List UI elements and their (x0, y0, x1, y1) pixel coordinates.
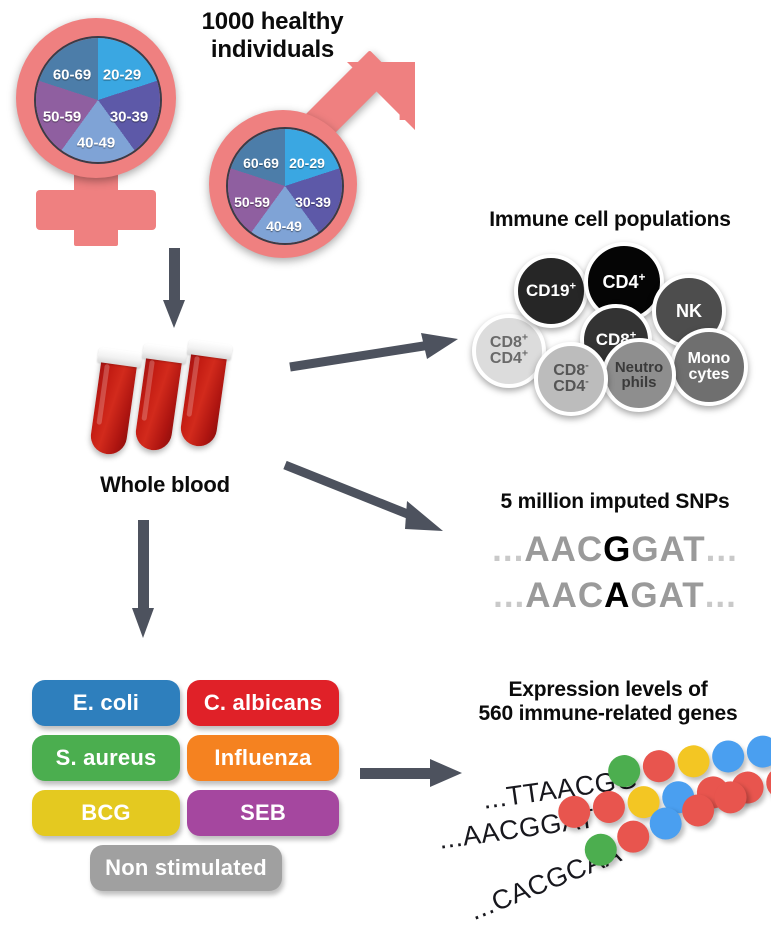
immune-cell-label-line: Neutro (615, 360, 663, 375)
immune-cell-label-line: CD4- (553, 379, 589, 395)
rna-strands: ...TTAACGG ...AACGGAT ...CACGCAA (455, 745, 771, 915)
snp-variant: A (604, 576, 630, 616)
stimulus-influenza[interactable]: Influenza (187, 735, 339, 781)
stimulus-label: S. aureus (56, 745, 157, 771)
cohort-heading: 1000 healthy individuals (185, 8, 360, 64)
arrow-blood-to-immune (288, 325, 463, 380)
stimulus-label: Non stimulated (105, 855, 267, 881)
figure-canvas: 1000 healthy individuals 20-29 30-39 40-… (0, 0, 771, 922)
male-pie-label-30-39: 30-39 (295, 194, 331, 210)
rna-bead (556, 794, 592, 830)
immune-cell-cd19pos: CD19+ (514, 254, 588, 328)
female-pie-label-20-29: 20-29 (103, 67, 141, 84)
female-pie-label-50-59: 50-59 (43, 109, 81, 126)
stimulus-c-albicans[interactable]: C. albicans (187, 680, 339, 726)
female-symbol: 20-29 30-39 40-49 50-59 60-69 (8, 14, 188, 244)
arrow-cohort-to-blood (163, 248, 185, 328)
cohort-heading-line2: individuals (185, 36, 360, 64)
snp-prefix: ... (493, 576, 525, 616)
male-symbol: 20-29 30-39 40-49 50-59 60-69 (205, 78, 420, 258)
female-pie-label-30-39: 30-39 (110, 109, 148, 126)
stimulus-label: SEB (240, 800, 286, 826)
rna-bead (641, 748, 677, 784)
female-stem-horizontal (36, 190, 156, 230)
expression-heading: Expression levels of 560 immune-related … (450, 678, 766, 727)
immune-cell-label-line: CD8- (553, 363, 589, 379)
arrow-blood-to-immune-svg (288, 325, 463, 380)
stimuli-panel: E. coli C. albicans S. aureus Influenza … (32, 680, 342, 895)
immune-cell-cluster: CD8+ CD4+ CD19+ CD4+ CD8+ NK Mono cytes … (462, 242, 762, 412)
arrow-blood-to-snps (283, 455, 463, 550)
immune-cell-cd8neg-cd4neg: CD8- CD4- (534, 342, 608, 416)
expression-heading-line1: Expression levels of (450, 678, 766, 702)
snp-left: AAC (524, 530, 603, 570)
arrow-stimuli-to-expression (360, 755, 470, 791)
rna-bead (675, 743, 711, 779)
whole-blood-label: Whole blood (75, 472, 255, 498)
stimulus-label: E. coli (73, 690, 139, 716)
snp-variant: G (603, 530, 631, 570)
rna-bead (710, 738, 746, 774)
blood-tube (89, 347, 139, 456)
immune-cell-neutrophils: Neutro phils (602, 338, 676, 412)
immune-cell-label-line: Mono (688, 351, 731, 367)
male-pie-label-50-59: 50-59 (234, 194, 270, 210)
snp-sequence-row: ...AACGGAT... (470, 530, 760, 570)
stimulus-bcg[interactable]: BCG (32, 790, 180, 836)
female-pie-label-40-49: 40-49 (77, 135, 115, 152)
immune-cell-label-line: cytes (689, 367, 730, 383)
stimulus-non-stimulated[interactable]: Non stimulated (90, 845, 282, 891)
arrow-blood-to-stimuli (132, 520, 156, 640)
male-pie-label-60-69: 60-69 (243, 155, 279, 171)
immune-cell-label-line: CD4+ (490, 351, 528, 367)
immune-cell-label-line: phils (621, 375, 656, 390)
immune-cell-label-line: CD4+ (603, 273, 646, 291)
rna-bead (606, 753, 642, 789)
snp-sequences: ...AACGGAT... ...AACAGAT... (470, 530, 760, 616)
snp-sequence-row: ...AACAGAT... (470, 576, 760, 616)
snp-left: AAC (525, 576, 604, 616)
cohort-heading-line1: 1000 healthy (185, 8, 360, 36)
rna-bead (745, 734, 771, 770)
stimulus-label: C. albicans (204, 690, 322, 716)
stimulus-label: BCG (81, 800, 131, 826)
blood-tubes (95, 340, 275, 460)
snp-prefix: ... (492, 530, 524, 570)
immune-cell-label-line: CD19+ (526, 282, 576, 299)
male-age-pie: 20-29 30-39 40-49 50-59 60-69 (226, 127, 344, 245)
immune-cell-monocytes: Mono cytes (670, 328, 748, 406)
stimulus-s-aureus[interactable]: S. aureus (32, 735, 180, 781)
expression-heading-line2: 560 immune-related genes (450, 702, 766, 726)
snp-suffix: ... (705, 576, 737, 616)
male-pie-label-40-49: 40-49 (266, 218, 302, 234)
rna-bead (764, 765, 771, 801)
stimulus-seb[interactable]: SEB (187, 790, 339, 836)
stimulus-label: Influenza (214, 745, 311, 771)
female-pie-label-60-69: 60-69 (53, 67, 91, 84)
stimulus-e-coli[interactable]: E. coli (32, 680, 180, 726)
arrow-blood-to-snps-svg (283, 455, 463, 550)
immune-cell-label-line: NK (676, 302, 702, 320)
female-age-pie: 20-29 30-39 40-49 50-59 60-69 (34, 36, 162, 164)
snp-suffix: ... (706, 530, 738, 570)
male-pie-label-20-29: 20-29 (289, 155, 325, 171)
snp-right: GAT (630, 576, 704, 616)
rna-bead (591, 789, 627, 825)
snps-heading: 5 million imputed SNPs (470, 490, 760, 514)
snp-right: GAT (631, 530, 705, 570)
immune-heading: Immune cell populations (455, 208, 765, 232)
